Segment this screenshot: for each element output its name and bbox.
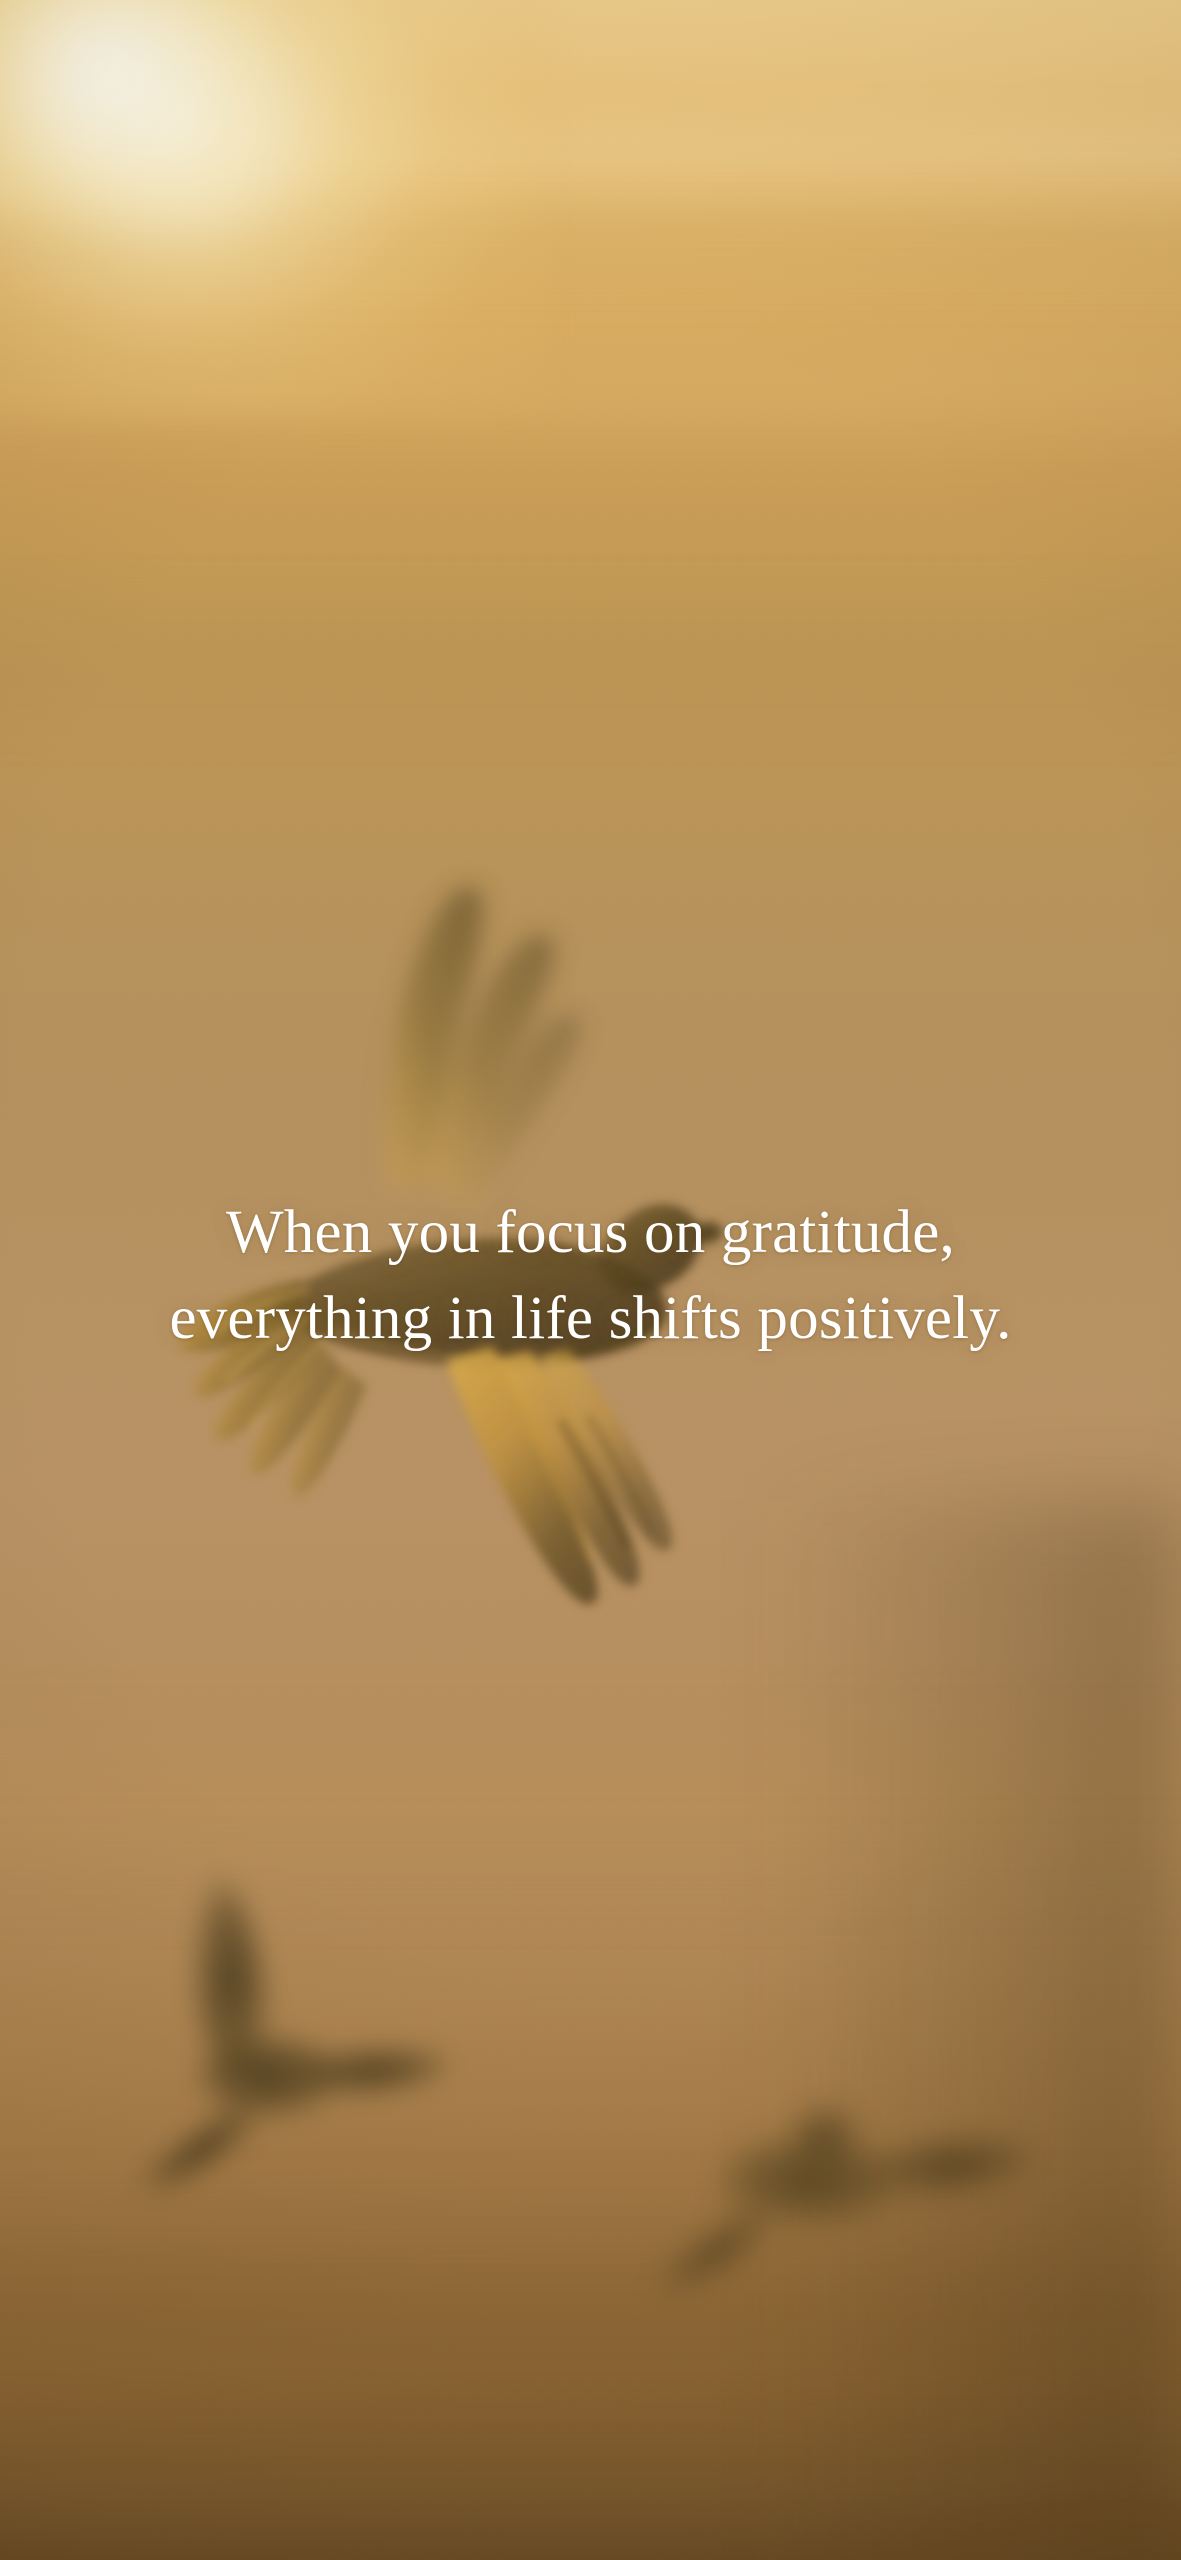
wallpaper-canvas: When you focus on gratitude, everything … xyxy=(0,0,1181,2560)
quote-line-2: everything in life shifts positively. xyxy=(18,1276,1163,1362)
quote-block: When you focus on gratitude, everything … xyxy=(0,1190,1181,1362)
quote-line-1: When you focus on gratitude, xyxy=(18,1190,1163,1276)
